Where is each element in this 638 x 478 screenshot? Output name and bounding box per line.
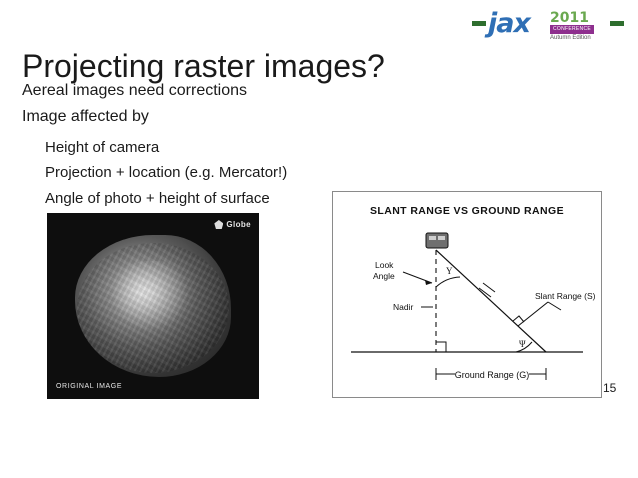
perpendicular-right-angle-icon: [513, 316, 524, 322]
globe-icon: [214, 220, 223, 229]
bullet-level2-1: Height of camera: [45, 138, 159, 157]
photo-caption: ORIGINAL IMAGE: [56, 383, 122, 390]
logo-year: 2011: [550, 11, 589, 25]
diagram-title: SLANT RANGE VS GROUND RANGE: [370, 205, 564, 217]
slide-canvas: jax 2011 CONFERENCE Autumn Edition Proje…: [0, 0, 638, 478]
bullet-level1-1: Aereal images need corrections: [22, 81, 247, 101]
page-title: Projecting raster images?: [22, 47, 385, 85]
slant-range-line: [436, 250, 546, 352]
logo-badge: CONFERENCE: [550, 25, 594, 34]
logo-subtitle: Autumn Edition: [550, 35, 591, 42]
look-angle-label-line2: Angle: [373, 271, 395, 281]
photo-watermark: Globe: [214, 220, 251, 229]
bullet-level2-2: Projection + location (e.g. Mercator!): [45, 163, 287, 182]
diagram-svg: SLANT RANGE VS GROUND RANGE Look Angle Y: [333, 192, 601, 397]
slant-range-diagram: SLANT RANGE VS GROUND RANGE Look Angle Y: [332, 191, 602, 398]
gamma-symbol: Y: [446, 266, 453, 276]
terrain-texture: [77, 243, 229, 373]
beam-tick-icon: [479, 283, 495, 297]
sensor-icon: [426, 233, 448, 248]
logo-bar-left-icon: [472, 21, 486, 26]
perpendicular-line: [518, 302, 548, 326]
psi-symbol: Ψ: [519, 339, 526, 349]
logo-wordmark: jax: [488, 10, 530, 37]
nadir-right-angle-icon: [436, 342, 446, 352]
bullet-level2-3: Angle of photo + height of surface: [45, 189, 270, 208]
bullet-level1-2: Image affected by: [22, 107, 149, 127]
slant-range-label: Slant Range (S): [535, 291, 596, 301]
jax-conference-logo: jax 2011 CONFERENCE Autumn Edition: [472, 10, 624, 44]
page-number: 15: [603, 381, 616, 395]
aerial-photo: Globe ORIGINAL IMAGE: [45, 211, 261, 401]
slant-range-leader: [548, 302, 561, 310]
nadir-label: Nadir: [393, 302, 413, 312]
look-angle-arc: [436, 277, 460, 287]
photo-watermark-label: Globe: [226, 220, 251, 229]
look-angle-label-line1: Look: [375, 260, 394, 270]
ground-range-label: Ground Range (G): [455, 370, 530, 380]
logo-bar-right-icon: [610, 21, 624, 26]
